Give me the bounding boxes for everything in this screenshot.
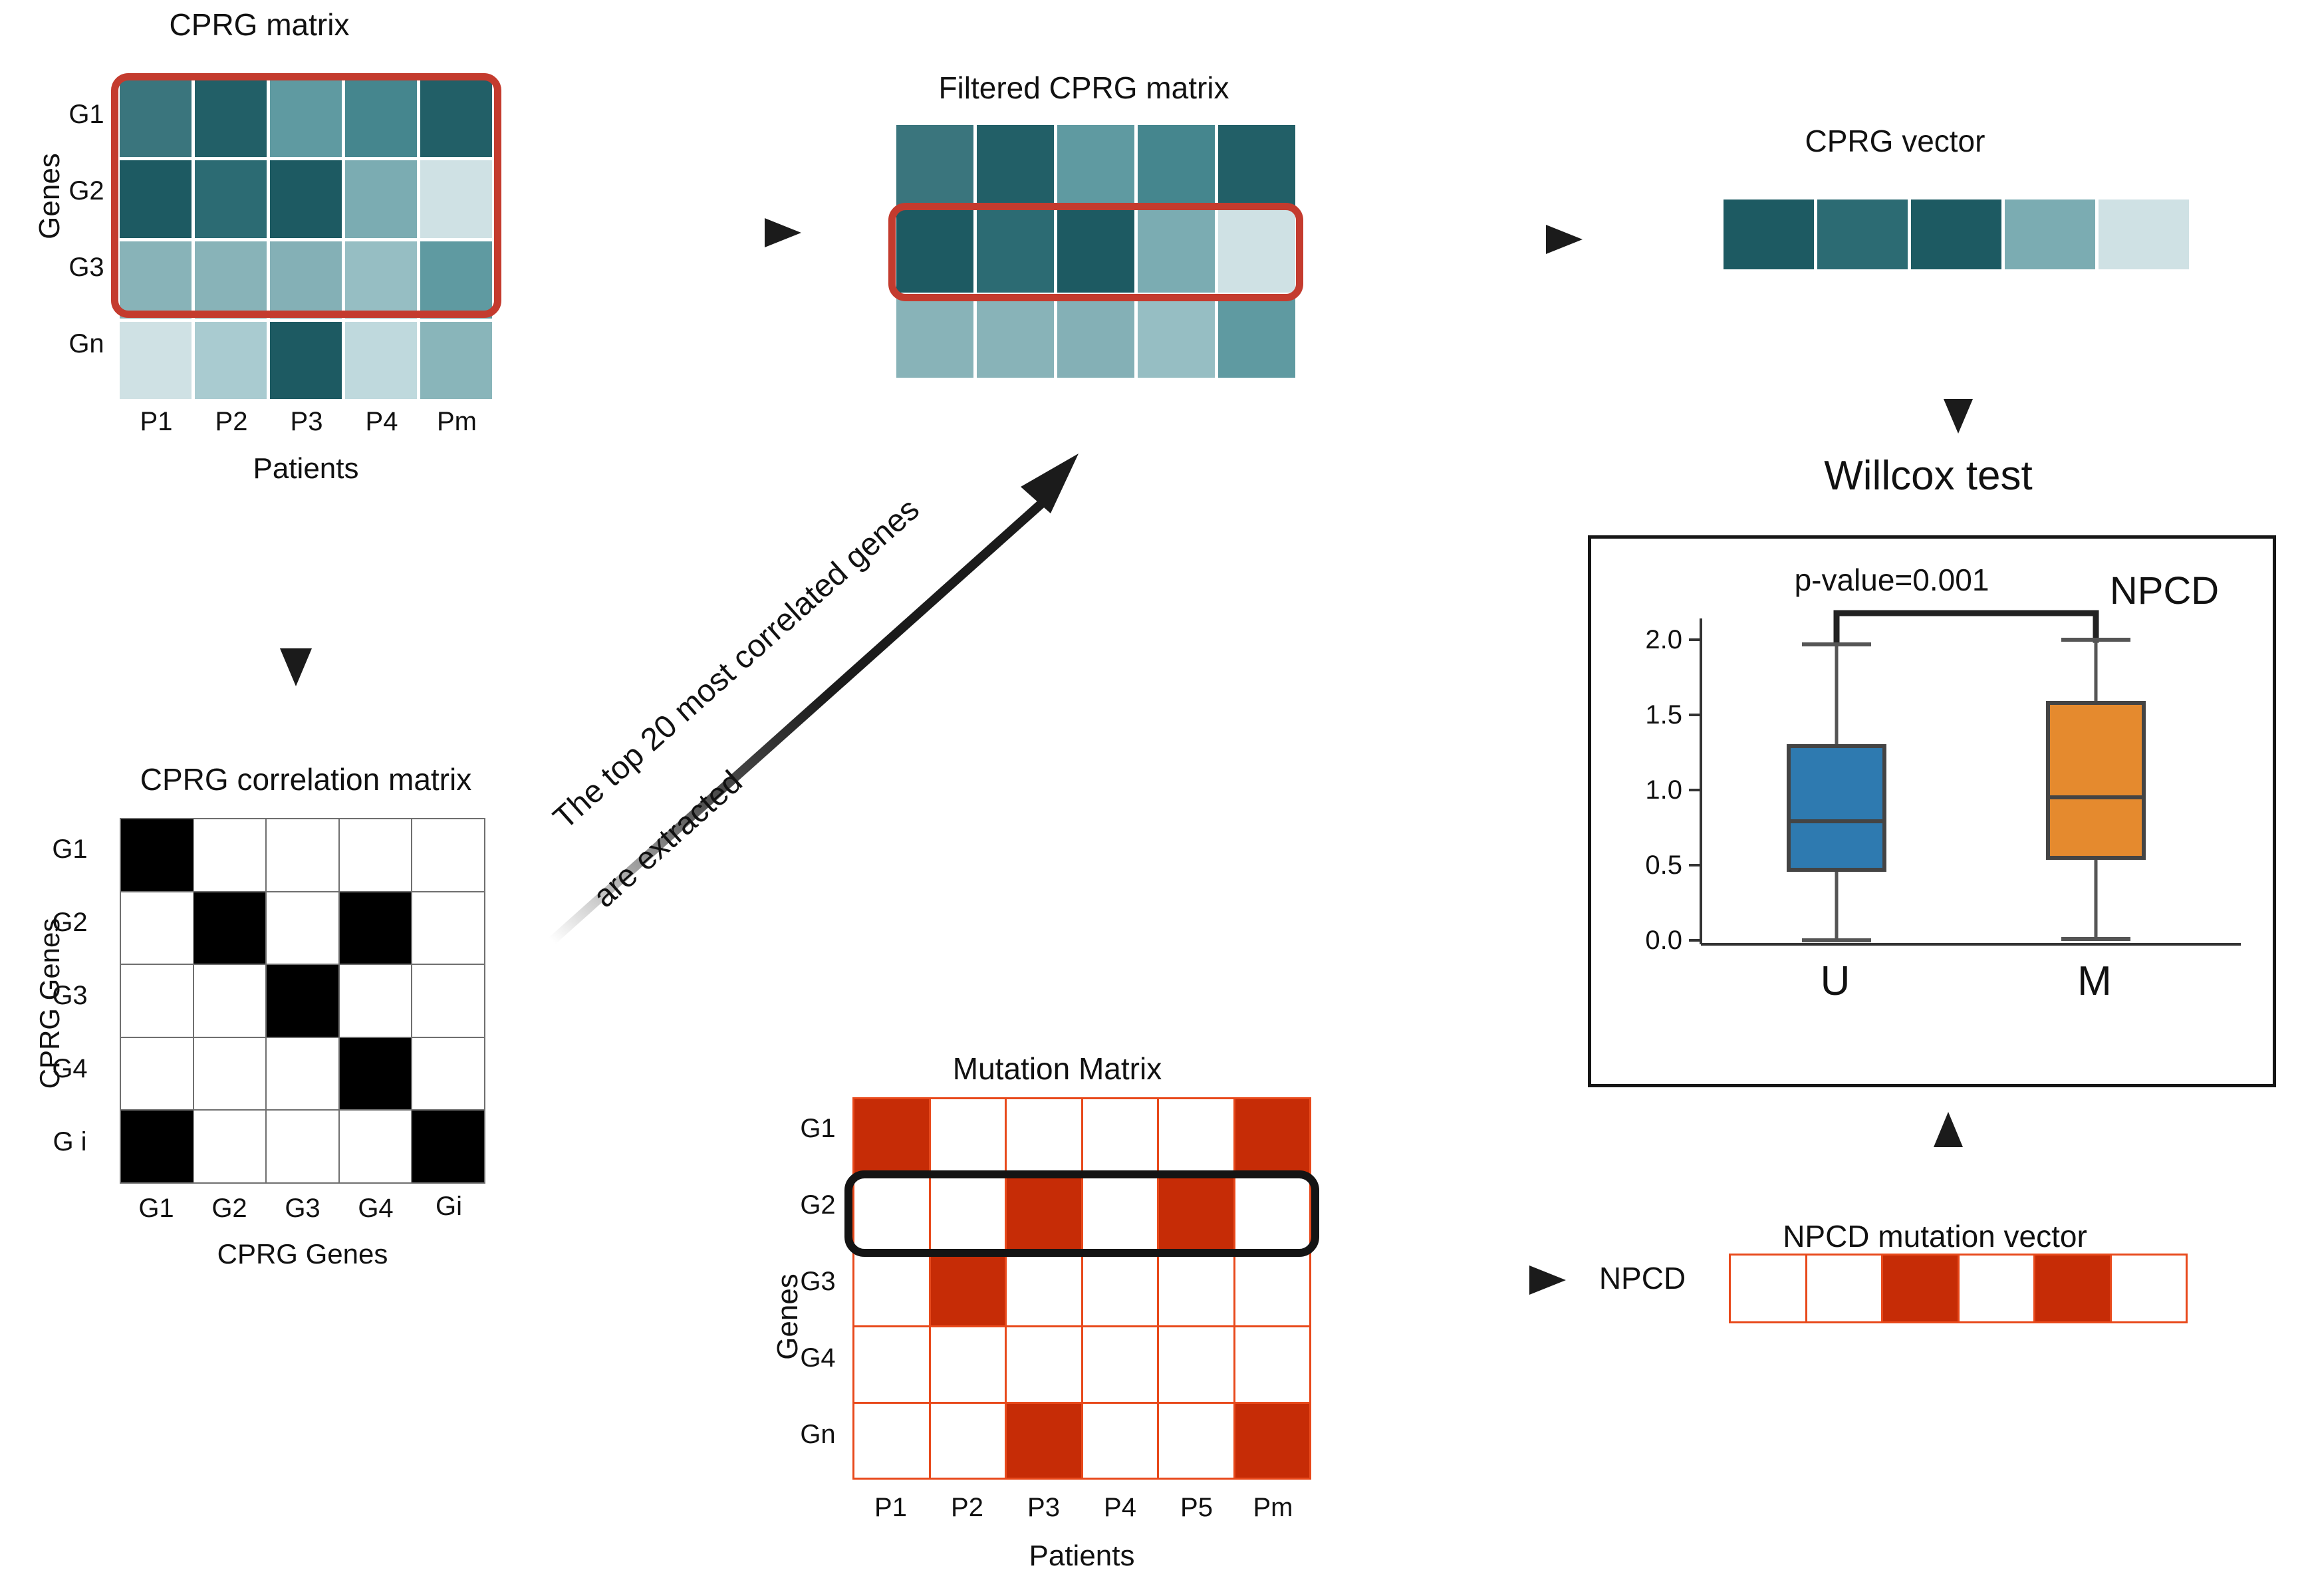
mutation-cell-g2-pm	[1235, 1175, 1310, 1249]
cprg-vector-grid	[1724, 199, 2189, 269]
correlation-cell-gi-g2	[194, 1111, 266, 1182]
mutation-cell-g2-p1	[854, 1175, 929, 1249]
filtered-cell-r1-c2	[977, 125, 1054, 207]
mutation-col-label-p4: P4	[1082, 1493, 1158, 1523]
cprg-vector-cell-5	[2099, 199, 2189, 269]
correlation-col-label-g3: G3	[266, 1194, 339, 1224]
mutation-cell-g3-pm	[1235, 1252, 1310, 1325]
cprg-col-label-p1: P1	[120, 407, 193, 437]
correlation-col-label-g1: G1	[120, 1194, 193, 1224]
boxplot-xtick-m: M	[2055, 958, 2134, 1005]
npcd-vector-cell-3	[1883, 1256, 1958, 1321]
mutation-cell-g1-p3	[1007, 1099, 1081, 1173]
filtered-cell-r1-c4	[1138, 125, 1215, 207]
correlation-row-label-g4: G4	[40, 1054, 100, 1084]
cprg-cell-g1-p1	[120, 80, 192, 157]
correlation-cell-g1-g3	[267, 819, 338, 891]
mutation-cell-gn-pm	[1235, 1404, 1310, 1478]
npcd-vector-cell-2	[1807, 1256, 1882, 1321]
cprg-matrix-grid	[120, 80, 492, 399]
filtered-cell-r3-c1	[896, 296, 973, 378]
mutation-row-label-g1: G1	[785, 1114, 851, 1144]
correlation-cell-g4-gi	[412, 1038, 484, 1110]
mutation-cell-g4-p3	[1007, 1327, 1081, 1401]
cprg-col-label-p4: P4	[345, 407, 418, 437]
cprg-cell-g1-p4	[345, 80, 417, 157]
mutation-cell-g2-p3	[1007, 1175, 1081, 1249]
cprg-row-label-g1: G1	[57, 100, 116, 130]
filtered-cell-r3-c2	[977, 296, 1054, 378]
correlation-row-label-g2: G2	[40, 908, 100, 938]
filtered-cell-r2-c1	[896, 210, 973, 292]
cprg-row-label-g2: G2	[57, 176, 116, 206]
correlation-cell-g3-gi	[412, 965, 484, 1037]
mutation-cell-gn-p5	[1159, 1404, 1233, 1478]
mutation-matrix-title: Mutation Matrix	[884, 1051, 1230, 1087]
npcd-row-label: NPCD	[1576, 1260, 1709, 1296]
cprg-x-axis-label: Patients	[120, 452, 492, 485]
mutation-cell-gn-p4	[1083, 1404, 1158, 1478]
mutation-row-label-g4: G4	[785, 1343, 851, 1373]
correlation-cell-g3-g3	[267, 965, 338, 1037]
mutation-cell-gn-p1	[854, 1404, 929, 1478]
correlation-matrix-title: CPRG correlation matrix	[73, 761, 539, 797]
correlation-row-label-g3: G3	[40, 981, 100, 1011]
boxplot-legend-npcd: NPCD	[2081, 569, 2247, 613]
mutation-cell-g4-p4	[1083, 1327, 1158, 1401]
mutation-cell-g1-p2	[931, 1099, 1005, 1173]
correlation-col-label-g4: G4	[339, 1194, 412, 1224]
npcd-vector-cell-5	[2035, 1256, 2110, 1321]
mutation-col-label-p5: P5	[1158, 1493, 1235, 1523]
cprg-cell-gn-p3	[270, 322, 342, 399]
boxplot-pvalue-annotation: p-value=0.001	[1735, 562, 2048, 598]
correlation-cell-g2-g1	[121, 892, 193, 964]
correlation-cell-g1-g4	[340, 819, 412, 891]
cprg-col-label-p3: P3	[270, 407, 343, 437]
cprg-cell-g2-p3	[270, 160, 342, 237]
arrow-cprg-to-correlation	[259, 512, 332, 698]
arrow-filtered-to-vector	[1420, 206, 1619, 273]
correlation-cell-gi-gi	[412, 1111, 484, 1182]
correlation-cell-g1-g1	[121, 819, 193, 891]
correlation-cell-g4-g3	[267, 1038, 338, 1110]
willcox-test-title: Willcox test	[1702, 452, 2154, 499]
correlation-cell-g4-g2	[194, 1038, 266, 1110]
filtered-cell-r2-c4	[1138, 210, 1215, 292]
mutation-cell-g3-p1	[854, 1252, 929, 1325]
filtered-cell-r1-c3	[1057, 125, 1134, 207]
npcd-vector-cell-4	[1960, 1256, 2034, 1321]
correlation-col-label-g2: G2	[193, 1194, 266, 1224]
mutation-cell-g2-p4	[1083, 1175, 1158, 1249]
correlation-x-axis-label: CPRG Genes	[120, 1238, 485, 1270]
filtered-cell-r2-c3	[1057, 210, 1134, 292]
mutation-row-label-g3: G3	[785, 1267, 851, 1297]
cprg-cell-gn-p4	[345, 322, 417, 399]
correlation-cell-g3-g4	[340, 965, 412, 1037]
mutation-cell-gn-p3	[1007, 1404, 1081, 1478]
mutation-cell-g3-p3	[1007, 1252, 1081, 1325]
mutation-col-label-p3: P3	[1005, 1493, 1082, 1523]
arrow-cprg-to-filtered	[638, 199, 831, 266]
cprg-cell-gn-pm	[420, 322, 492, 399]
npcd-vector-cell-6	[2112, 1256, 2186, 1321]
mutation-matrix-grid	[852, 1097, 1311, 1480]
cprg-vector-cell-1	[1724, 199, 1814, 269]
correlation-cell-g3-g2	[194, 965, 266, 1037]
filtered-matrix-title: Filtered CPRG matrix	[864, 70, 1303, 106]
mutation-cell-gn-p2	[931, 1404, 1005, 1478]
arrow-npcd-to-boxplot	[1912, 1097, 1985, 1237]
correlation-cell-g4-g1	[121, 1038, 193, 1110]
mutation-row-label-g2: G2	[785, 1190, 851, 1220]
mutation-cell-g1-p4	[1083, 1099, 1158, 1173]
filtered-cell-r3-c3	[1057, 296, 1134, 378]
boxplot-ytick-1-5: 1.5	[1596, 700, 1682, 730]
correlation-matrix-grid	[120, 818, 485, 1184]
cprg-cell-g2-p2	[195, 160, 267, 237]
mutation-cell-g1-p5	[1159, 1099, 1233, 1173]
filtered-matrix-grid	[896, 125, 1295, 378]
filtered-cell-r1-c1	[896, 125, 973, 207]
correlation-cell-g2-g4	[340, 892, 412, 964]
cprg-vector-cell-2	[1817, 199, 1908, 269]
filtered-cell-r1-c5	[1218, 125, 1295, 207]
correlation-cell-gi-g4	[340, 1111, 412, 1182]
mutation-cell-g3-p4	[1083, 1252, 1158, 1325]
boxplot-svg	[1689, 552, 2254, 964]
filtered-cell-r3-c5	[1218, 296, 1295, 378]
cprg-cell-g3-p3	[270, 241, 342, 319]
filtered-cell-r2-c2	[977, 210, 1054, 292]
cprg-col-label-pm: Pm	[420, 407, 493, 437]
correlation-row-label-g1: G1	[40, 835, 100, 864]
cprg-cell-g1-p3	[270, 80, 342, 157]
correlation-cell-g2-g2	[194, 892, 266, 964]
cprg-col-label-p2: P2	[195, 407, 268, 437]
mutation-cell-g2-p2	[931, 1175, 1005, 1249]
boxplot-ytick-0-0: 0.0	[1596, 926, 1682, 956]
cprg-cell-g3-p2	[195, 241, 267, 319]
cprg-vector-title: CPRG vector	[1689, 123, 2101, 159]
mutation-cell-g4-p2	[931, 1327, 1005, 1401]
correlation-cell-gi-g1	[121, 1111, 193, 1182]
mutation-cell-g3-p5	[1159, 1252, 1233, 1325]
boxplot-ytick-2-0: 2.0	[1596, 625, 1682, 655]
mutation-col-label-p2: P2	[929, 1493, 1005, 1523]
cprg-cell-g2-p4	[345, 160, 417, 237]
mutation-cell-g2-p5	[1159, 1175, 1233, 1249]
mutation-cell-g1-pm	[1235, 1099, 1310, 1173]
mutation-cell-g4-p1	[854, 1327, 929, 1401]
correlation-cell-g1-gi	[412, 819, 484, 891]
mutation-y-axis-label: Genes	[771, 1217, 805, 1416]
mutation-x-axis-label: Patients	[852, 1539, 1311, 1573]
boxplot-ytick-0-5: 0.5	[1596, 851, 1682, 880]
boxplot-ytick-1-0: 1.0	[1596, 775, 1682, 805]
correlation-cell-gi-g3	[267, 1111, 338, 1182]
cprg-row-label-g3: G3	[57, 253, 116, 283]
correlation-row-label-gi: G i	[37, 1127, 103, 1157]
boxplot-xtick-u: U	[1795, 958, 1875, 1005]
arrow-vector-to-willcox	[1922, 313, 1995, 446]
cprg-matrix-title: CPRG matrix	[66, 7, 452, 43]
cprg-vector-cell-3	[1911, 199, 2001, 269]
mutation-col-label-pm: Pm	[1235, 1493, 1311, 1523]
mutation-row-label-gn: Gn	[785, 1420, 851, 1450]
npcd-vector-cell-1	[1731, 1256, 1805, 1321]
filtered-cell-r3-c4	[1138, 296, 1215, 378]
cprg-cell-g3-p1	[120, 241, 192, 319]
correlation-cell-g2-g3	[267, 892, 338, 964]
cprg-cell-g2-p1	[120, 160, 192, 237]
cprg-cell-g3-pm	[420, 241, 492, 319]
mutation-cell-g1-p1	[854, 1099, 929, 1173]
mutation-col-label-p1: P1	[852, 1493, 929, 1523]
mutation-cell-g4-p5	[1159, 1327, 1233, 1401]
cprg-cell-gn-p2	[195, 322, 267, 399]
filtered-cell-r2-c5	[1218, 210, 1295, 292]
correlation-cell-g2-gi	[412, 892, 484, 964]
correlation-cell-g1-g2	[194, 819, 266, 891]
correlation-cell-g4-g4	[340, 1038, 412, 1110]
mutation-cell-g3-p2	[931, 1252, 1005, 1325]
cprg-cell-g3-p4	[345, 241, 417, 319]
mutation-cell-g4-pm	[1235, 1327, 1310, 1401]
correlation-col-label-gi: Gi	[412, 1192, 485, 1222]
cprg-vector-cell-4	[2005, 199, 2095, 269]
cprg-cell-g1-pm	[420, 80, 492, 157]
correlation-cell-g3-g1	[121, 965, 193, 1037]
cprg-cell-g2-pm	[420, 160, 492, 237]
cprg-cell-gn-p1	[120, 322, 192, 399]
npcd-vector-grid	[1729, 1254, 2188, 1323]
cprg-row-label-gn: Gn	[57, 329, 116, 359]
cprg-cell-g1-p2	[195, 80, 267, 157]
